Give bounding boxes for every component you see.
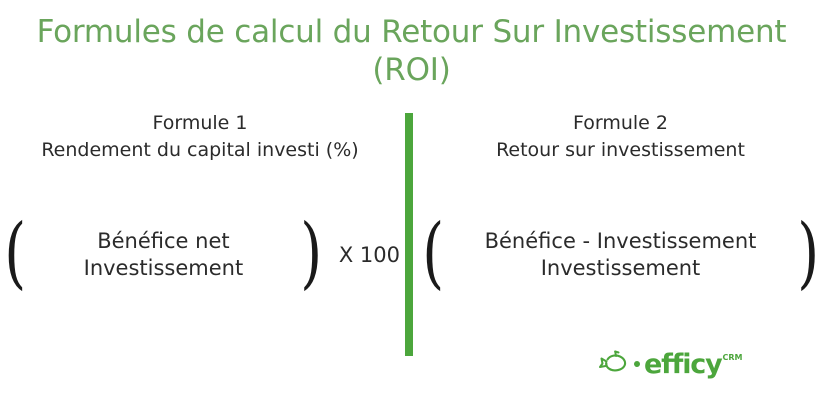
- column-1-subtitle: Rendement du capital investi (%): [0, 137, 400, 164]
- logo-separator-dot-icon: [634, 361, 640, 367]
- formula-1-fraction: Bénéfice net Investissement: [32, 228, 294, 282]
- vertical-divider: [405, 113, 413, 356]
- column-2-heading: Formule 2 Retour sur investissement: [418, 110, 823, 164]
- formula-2-numerator: Bénéfice - Investissement: [479, 229, 763, 253]
- formula-1-multiplier: X 100: [339, 243, 400, 267]
- whale-mark-icon: [597, 350, 631, 378]
- formula-1-denominator: Investissement: [78, 256, 250, 280]
- column-formule-2: Formule 2 Retour sur investissement: [418, 110, 823, 164]
- efficy-logo: efficy CRM: [597, 350, 742, 378]
- logo-wordmark: efficy: [644, 351, 721, 378]
- formula-1-numerator: Bénéfice net: [91, 229, 235, 253]
- formula-2-fraction: Bénéfice - Investissement Investissement: [450, 228, 790, 282]
- formula-2-expression: ( Bénéfice - Investissement Investisseme…: [418, 228, 823, 282]
- column-1-heading: Formule 1 Rendement du capital investi (…: [0, 110, 400, 164]
- page-title: Formules de calcul du Retour Sur Investi…: [0, 14, 823, 90]
- formula-2-denominator: Investissement: [535, 256, 707, 280]
- logo-superscript: CRM: [722, 353, 742, 362]
- column-formule-1: Formule 1 Rendement du capital investi (…: [0, 110, 400, 164]
- title-line-1: Formules de calcul du Retour Sur Investi…: [0, 14, 823, 52]
- column-2-subtitle: Retour sur investissement: [418, 137, 823, 164]
- column-1-title: Formule 1: [153, 112, 248, 134]
- column-2-title: Formule 2: [573, 112, 668, 134]
- formula-1-expression: ( Bénéfice net Investissement ) X 100: [0, 228, 400, 282]
- title-line-2: (ROI): [0, 52, 823, 90]
